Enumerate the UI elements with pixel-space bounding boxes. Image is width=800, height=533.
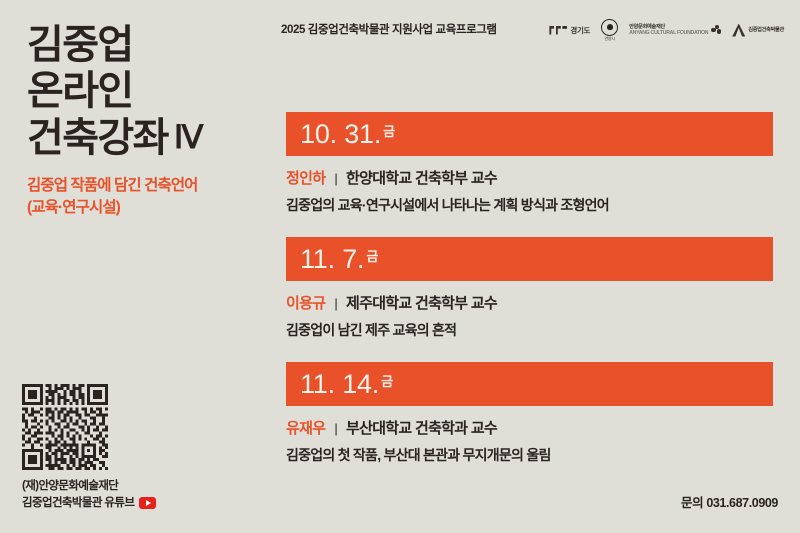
anyang-foundation-sublabel: ANYANG CULTURAL FOUNDATION <box>629 30 708 37</box>
title-line-1: 김중업 <box>27 22 277 68</box>
contact-info: 문의 031.687.0909 <box>681 492 778 511</box>
title-line-3: 건축강좌Ⅳ <box>27 115 277 161</box>
session-weekday: 금 <box>383 121 394 140</box>
museum-arch-icon <box>732 24 745 37</box>
session-date-bar: 11. 7. 금 <box>286 237 773 281</box>
anyang-foundation-logo: 안양문화예술재단 ANYANG CULTURAL FOUNDATION <box>629 24 721 37</box>
gyeonggi-do-mark-icon <box>549 26 567 35</box>
session-speaker-row: 이용규 | 제주대학교 건축학부 교수 <box>286 292 773 313</box>
kimchungup-museum-logo: 김중업건축박물관 <box>732 24 784 37</box>
subtitle-line-2: (교육·연구시설) <box>27 197 277 219</box>
gyeonggi-do-label: 경기도 <box>570 25 590 36</box>
session-date-bar: 11. 14. 금 <box>286 362 773 406</box>
anyang-seal-icon <box>601 19 618 36</box>
session-date: 10. 31. <box>300 119 381 150</box>
speaker-name: 유재우 <box>286 417 325 438</box>
session-topic: 김중업이 남긴 제주 교육의 흔적 <box>286 320 773 340</box>
session-item: 11. 14. 금 유재우 | 부산대학교 건축학과 교수 김중업의 첫 작품,… <box>286 362 773 465</box>
gyeonggi-do-logo: 경기도 <box>549 25 590 36</box>
session-weekday: 금 <box>381 371 392 390</box>
sponsor-logo-strip: 경기도 안양시 안양문화예술재단 ANYANG CULTURAL FOUNDAT… <box>549 17 784 43</box>
session-item: 11. 7. 금 이용규 | 제주대학교 건축학부 교수 김중업이 남긴 제주 … <box>286 237 773 340</box>
session-topic: 김중업의 교육·연구시설에서 나타나는 계획 방식과 조형언어 <box>286 195 773 215</box>
poster-canvas: 2025 김중업건축박물관 지원사업 교육프로그램 경기도 안양시 안양문화예술… <box>0 0 800 533</box>
youtube-play-icon[interactable] <box>139 497 156 509</box>
speaker-separator: | <box>334 421 337 436</box>
speaker-affiliation: 제주대학교 건축학부 교수 <box>346 292 497 313</box>
session-date: 11. 14. <box>300 369 379 400</box>
speaker-affiliation: 한양대학교 건축학부 교수 <box>346 167 497 188</box>
lecture-session-list: 10. 31. 금 정인하 | 한양대학교 건축학부 교수 김중업의 교육·연구… <box>286 112 773 465</box>
poster-title-block: 김중업 온라인 건축강좌Ⅳ 김중업 작품에 담긴 건축언어 (교육·연구시설) <box>27 22 277 219</box>
speaker-separator: | <box>334 296 337 311</box>
title-line-3-text: 건축강좌 <box>27 116 168 160</box>
session-speaker-row: 유재우 | 부산대학교 건축학과 교수 <box>286 417 773 438</box>
qr-caption-line-1: (재)안양문화예술재단 <box>22 478 232 494</box>
program-caption: 2025 김중업건축박물관 지원사업 교육프로그램 <box>281 21 497 37</box>
speaker-affiliation: 부산대학교 건축학과 교수 <box>346 417 497 438</box>
speaker-separator: | <box>334 171 337 186</box>
speaker-name: 정인하 <box>286 167 325 188</box>
session-speaker-row: 정인하 | 한양대학교 건축학부 교수 <box>286 167 773 188</box>
session-weekday: 금 <box>366 246 377 265</box>
anyang-seal-logo: 안양시 <box>601 19 618 42</box>
title-line-2: 온라인 <box>27 68 277 114</box>
qr-caption-line-2-row: 김중업건축박물관 유튜브 <box>22 495 232 511</box>
session-item: 10. 31. 금 정인하 | 한양대학교 건축학부 교수 김중업의 교육·연구… <box>286 112 773 215</box>
speaker-name: 이용규 <box>286 292 325 313</box>
session-date: 11. 7. <box>300 244 364 275</box>
subtitle-line-1: 김중업 작품에 담긴 건축언어 <box>27 175 277 197</box>
qr-block: (재)안양문화예술재단 김중업건축박물관 유튜브 <box>22 384 232 511</box>
session-topic: 김중업의 첫 작품, 부산대 본관과 무지개문의 울림 <box>286 445 773 465</box>
anyang-seal-label: 안양시 <box>604 36 614 42</box>
kimchungup-museum-label: 김중업건축박물관 <box>748 27 784 34</box>
qr-code-icon[interactable] <box>22 384 108 470</box>
qr-caption: (재)안양문화예술재단 김중업건축박물관 유튜브 <box>22 478 232 511</box>
flower-icon <box>711 25 721 35</box>
qr-caption-line-2: 김중업건축박물관 유튜브 <box>22 495 134 511</box>
poster-subtitle: 김중업 작품에 담긴 건축언어 (교육·연구시설) <box>27 175 277 219</box>
title-roman-numeral: Ⅳ <box>174 119 204 155</box>
session-date-bar: 10. 31. 금 <box>286 112 773 156</box>
